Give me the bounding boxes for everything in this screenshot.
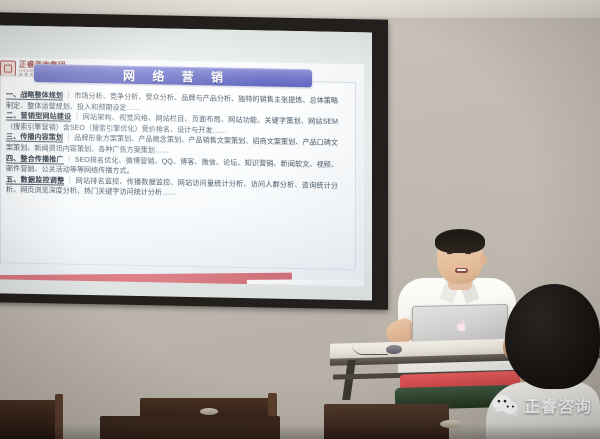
wechat-logo-icon	[492, 394, 518, 416]
company-seal-icon	[0, 60, 16, 76]
lecture-room-photo: 正睿咨询集团 ZHENGRUI CONSULTING GROUP 管理咨询 培训…	[0, 0, 600, 439]
presenter-hair	[435, 229, 485, 253]
slide-item-head: 五、数据监控调整	[6, 175, 64, 185]
slide-title-text: 网 络 营 销	[116, 66, 230, 85]
slide-item-head: 四、整合传播推广	[6, 154, 64, 164]
apple-logo-icon	[456, 319, 467, 332]
floor-shadow	[0, 424, 600, 439]
slide-accent-corner	[247, 279, 364, 287]
watermark: 正睿咨询	[492, 393, 592, 417]
slide-item-head: 二、营销型网站建设	[6, 112, 71, 122]
slide-item-head: 三、传播内容策划	[6, 133, 63, 143]
watermark-text: 正睿咨询	[524, 393, 592, 417]
presenter-ear	[480, 254, 487, 265]
chair-label-plate	[200, 408, 218, 415]
slide-item-sep: ｜	[63, 134, 74, 142]
slide-body: 一、战略整体规划｜市场分析、竞争分析、受众分析、品牌与产品分析、独特的销售主张提…	[6, 89, 338, 201]
slide-item-sep: ｜	[64, 176, 75, 184]
attendee-head	[505, 284, 600, 389]
slide-item-sep: ｜	[63, 92, 74, 100]
projection-screen-frame: 正睿咨询集团 ZHENGRUI CONSULTING GROUP 管理咨询 培训…	[0, 12, 388, 310]
slide-item-sep: ｜	[71, 113, 82, 121]
presenter-eye-right	[465, 252, 471, 254]
mouse-cable	[352, 344, 388, 355]
slide-item-sep: ｜	[64, 155, 75, 163]
presentation-slide: 正睿咨询集团 ZHENGRUI CONSULTING GROUP 管理咨询 培训…	[0, 57, 364, 286]
slide-item-head: 一、战略整体规划	[6, 90, 63, 100]
presenter-eye-left	[447, 252, 453, 254]
presenter-mouth	[455, 268, 468, 273]
projection-screen-surface: 正睿咨询集团 ZHENGRUI CONSULTING GROUP 管理咨询 培训…	[0, 25, 372, 300]
